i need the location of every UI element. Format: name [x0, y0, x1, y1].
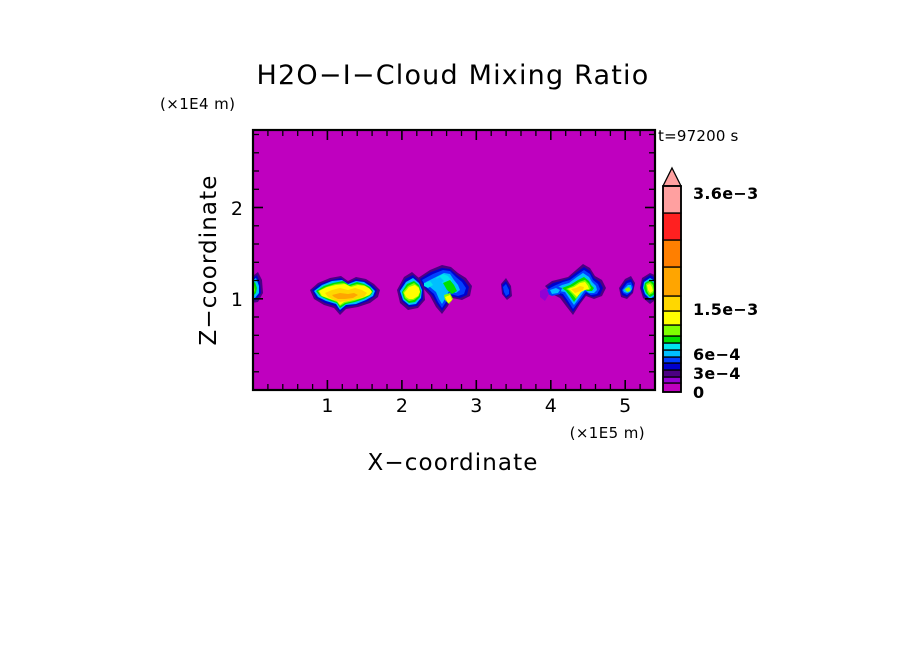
- time-annotation: t=97200 s: [658, 127, 739, 145]
- x-unit-label: (×1E5 m): [570, 424, 645, 442]
- y-unit-label: (×1E4 m): [160, 95, 235, 113]
- colorbar-label-min: 0: [693, 383, 704, 402]
- colorbar-segment: [663, 370, 681, 377]
- contour-background-level: [253, 130, 655, 390]
- colorbar-label: 1.5e−3: [693, 300, 759, 319]
- contour-figure: H2O−I−Cloud Mixing Ratio (×1E4 m) t=9720…: [0, 0, 904, 654]
- y-tick-label: 1: [231, 289, 243, 311]
- colorbar-label-max: 3.6e−3: [693, 184, 759, 203]
- colorbar-segment: [663, 377, 681, 383]
- colorbar-label: 3e−4: [693, 364, 741, 383]
- x-axis-title: X−coordinate: [368, 450, 539, 476]
- colorbar-segment: [663, 213, 681, 240]
- colorbar-segment: [663, 343, 681, 350]
- colorbar-segment: [663, 357, 681, 363]
- x-tick-label: 5: [619, 395, 631, 417]
- x-tick-label: 3: [470, 395, 482, 417]
- colorbar-segment: [663, 383, 681, 392]
- colorbar[interactable]: [663, 168, 681, 392]
- colorbar-segment: [663, 240, 681, 267]
- x-tick-label: 2: [396, 395, 408, 417]
- colorbar-label: 6e−4: [693, 345, 741, 364]
- colorbar-segment: [663, 336, 681, 343]
- page-title: H2O−I−Cloud Mixing Ratio: [257, 60, 650, 91]
- colorbar-segment: [663, 186, 681, 213]
- colorbar-segment: [663, 267, 681, 296]
- y-axis-title: Z−coordinate: [196, 175, 222, 346]
- x-tick-label: 1: [321, 395, 333, 417]
- colorbar-segment: [663, 325, 681, 336]
- colorbar-segment: [663, 311, 681, 325]
- plot-area: [250, 130, 660, 390]
- x-tick-label: 4: [545, 395, 557, 417]
- colorbar-segment: [663, 296, 681, 311]
- colorbar-segment: [663, 363, 681, 370]
- y-tick-label: 2: [231, 198, 243, 220]
- colorbar-segment: [663, 350, 681, 357]
